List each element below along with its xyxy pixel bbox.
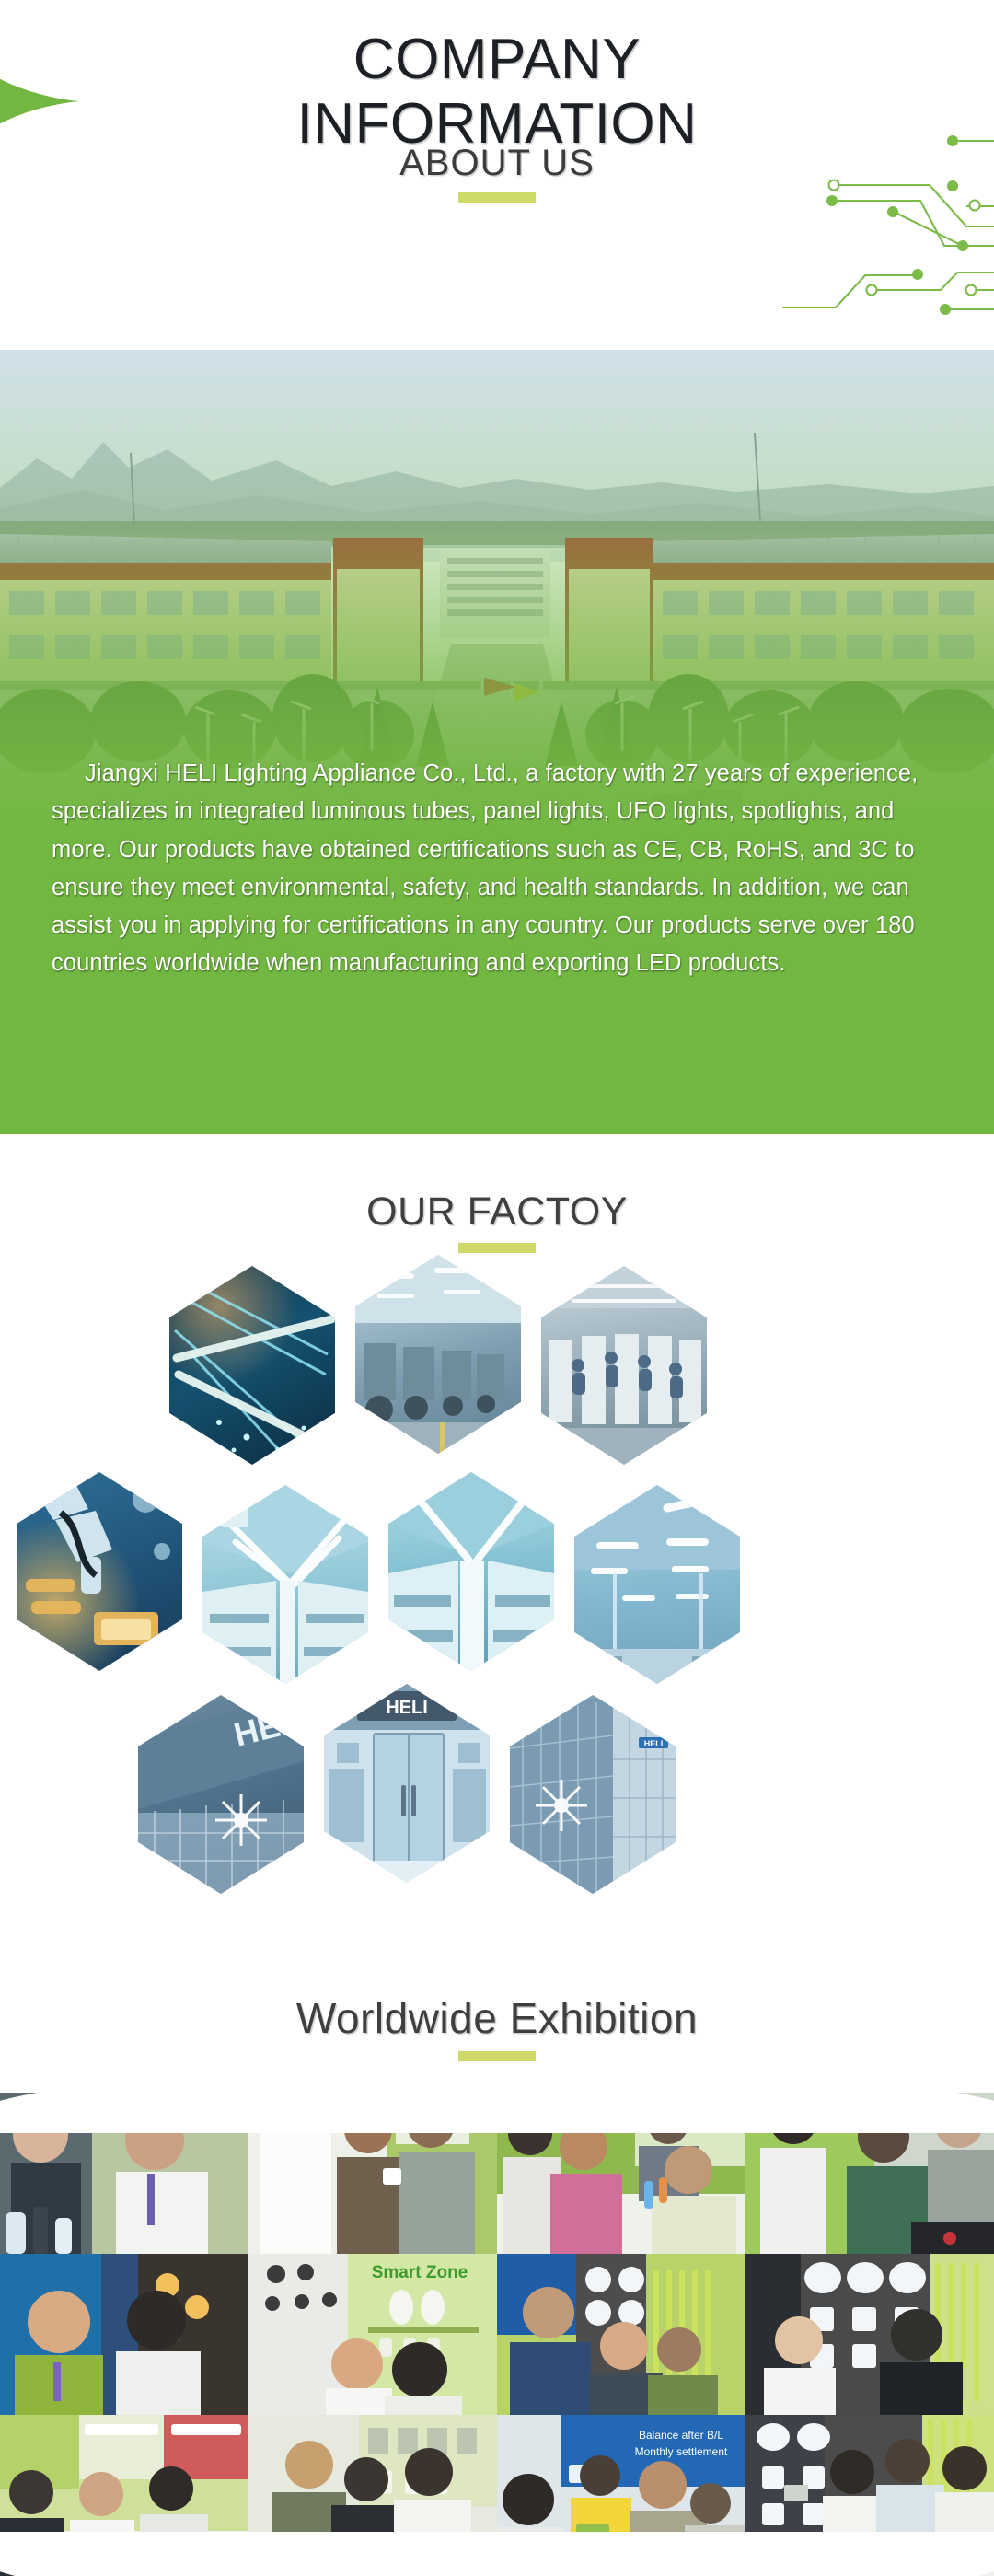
heading-underline-rule <box>458 192 536 203</box>
hex-assembly-aisle[interactable] <box>388 1472 554 1671</box>
hex-clean-corridor[interactable] <box>202 1485 368 1684</box>
exhibition-heading: Worldwide Exhibition <box>0 1993 994 2043</box>
heli-entrance-art: HELI <box>324 1684 490 1883</box>
hex-heli-entrance[interactable]: HELI <box>324 1684 490 1883</box>
hex-production-floor[interactable] <box>541 1266 707 1465</box>
hex-heli-tower[interactable]: HELI <box>510 1695 676 1894</box>
factory-heading-underline <box>458 1243 536 1253</box>
exh-5[interactable] <box>0 2254 248 2415</box>
hex-machine-hall[interactable] <box>355 1255 521 1454</box>
exhibition-heading-underline <box>458 2051 536 2061</box>
hero-section: COMPANY INFORMATION ABOUT US <box>0 0 994 350</box>
about-banner: 江西合力照明科技有限公司 Jiangxi HELI Lighting Appli… <box>0 350 994 1134</box>
clean-corridor-art <box>202 1485 368 1684</box>
hex-heli-building-sun[interactable]: HELI <box>138 1695 304 1894</box>
hex-lighting-workshop[interactable] <box>574 1485 740 1684</box>
production-floor-art <box>541 1266 707 1465</box>
page-title: COMPANY INFORMATION <box>0 28 994 157</box>
factory-hexagon-gallery: HELI HELI <box>0 1253 994 1990</box>
heli-sign-text: HELI <box>386 1698 428 1718</box>
exhibition-section: Worldwide Exhibition <box>0 1990 994 2576</box>
about-us-heading-text: ABOUT US <box>0 143 994 184</box>
exh-6[interactable]: Smart Zone <box>248 2254 497 2415</box>
exhibition-photo-grid: Smart Zone <box>0 2093 994 2576</box>
robotic-arm-art <box>17 1472 182 1671</box>
page-title-line-1: COMPANY <box>0 28 994 92</box>
hex-led-strip-assembly[interactable] <box>169 1266 335 1465</box>
exhibition-row-2: Smart Zone <box>0 2254 994 2415</box>
factory-heading: OUR FACTOY <box>0 1189 994 1235</box>
exh-8[interactable] <box>745 2254 994 2415</box>
smart-zone-sign: Smart Zone <box>372 2263 468 2282</box>
grid-bottom-arc-mask <box>0 2532 994 2576</box>
hex-robotic-arm[interactable] <box>17 1472 182 1671</box>
assembly-aisle-art <box>388 1472 554 1671</box>
factory-section: OUR FACTOY <box>0 1134 994 1990</box>
factory-campus-photo: 江西合力照明科技有限公司 <box>0 350 994 1134</box>
heli-tower-sign-text: HELI <box>644 1739 664 1748</box>
about-paragraph: Jiangxi HELI Lighting Appliance Co., Ltd… <box>52 755 950 983</box>
grid-top-arc-mask <box>0 2093 994 2133</box>
heli-building-art: HELI <box>138 1695 304 1894</box>
exh-7[interactable] <box>497 2254 745 2415</box>
lighting-workshop-art <box>574 1485 740 1684</box>
booth-banner-line1: Balance after B/L <box>639 2429 723 2442</box>
about-us-heading: ABOUT US <box>0 143 994 203</box>
machine-hall-art <box>355 1255 521 1454</box>
led-strip-art <box>169 1266 335 1465</box>
booth-banner-line2: Monthly settlement <box>635 2445 728 2458</box>
heli-tower-art: HELI <box>510 1695 676 1894</box>
